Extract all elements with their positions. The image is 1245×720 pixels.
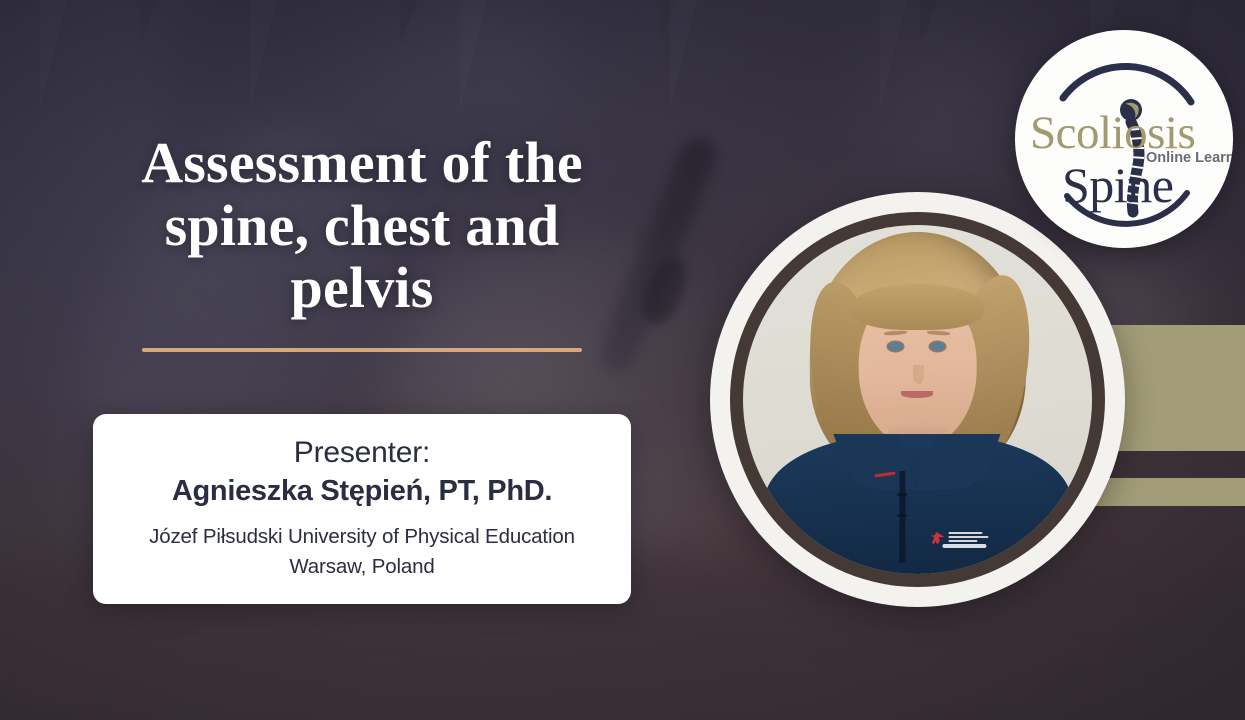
logo-top-arc — [1063, 67, 1191, 102]
title-block: Assessment of the spine, chest and pelvi… — [62, 132, 662, 352]
title-divider — [142, 348, 582, 352]
scoliosis-spine-logo-icon: Scoliosis Spine Online Learning — [1015, 30, 1233, 248]
presenter-card: Presenter: Agnieszka Stępień, PT, PhD. J… — [93, 414, 631, 604]
emblem-text-line — [948, 532, 982, 534]
portrait-placket — [899, 471, 906, 563]
title-slide: Assessment of the spine, chest and pelvi… — [0, 0, 1245, 720]
emblem-figure-icon — [931, 532, 945, 544]
portrait-polo-shirt — [764, 434, 1071, 574]
presenter-name: Agnieszka Stępień, PT, PhD. — [172, 473, 552, 511]
presenter-affiliation: Józef Piłsudski University of Physical E… — [149, 522, 575, 580]
portrait-collar-right — [917, 434, 1002, 489]
brand-logo[interactable]: Scoliosis Spine Online Learning — [1015, 30, 1233, 248]
avatar — [743, 225, 1092, 574]
emblem-wordmark — [942, 544, 986, 548]
emblem-text-line — [948, 536, 989, 538]
title-line-3: pelvis — [62, 257, 662, 320]
logo-tagline: Online Learning — [1146, 150, 1233, 166]
portrait-eye-left — [888, 342, 903, 351]
portrait-fringe — [851, 284, 984, 329]
presenter-label: Presenter: — [294, 435, 430, 470]
portrait-button — [897, 514, 908, 517]
affiliation-line-2: Warsaw, Poland — [149, 552, 575, 581]
presenter-portrait — [710, 192, 1125, 607]
emblem-text-line — [948, 540, 977, 542]
page-title: Assessment of the spine, chest and pelvi… — [62, 132, 662, 320]
portrait-eye-right — [930, 342, 945, 351]
portrait-inner-ring — [730, 212, 1105, 587]
title-line-2: spine, chest and — [62, 195, 662, 258]
title-line-1: Assessment of the — [62, 132, 662, 195]
affiliation-line-1: Józef Piłsudski University of Physical E… — [149, 522, 575, 551]
shirt-emblem-icon — [930, 530, 991, 550]
